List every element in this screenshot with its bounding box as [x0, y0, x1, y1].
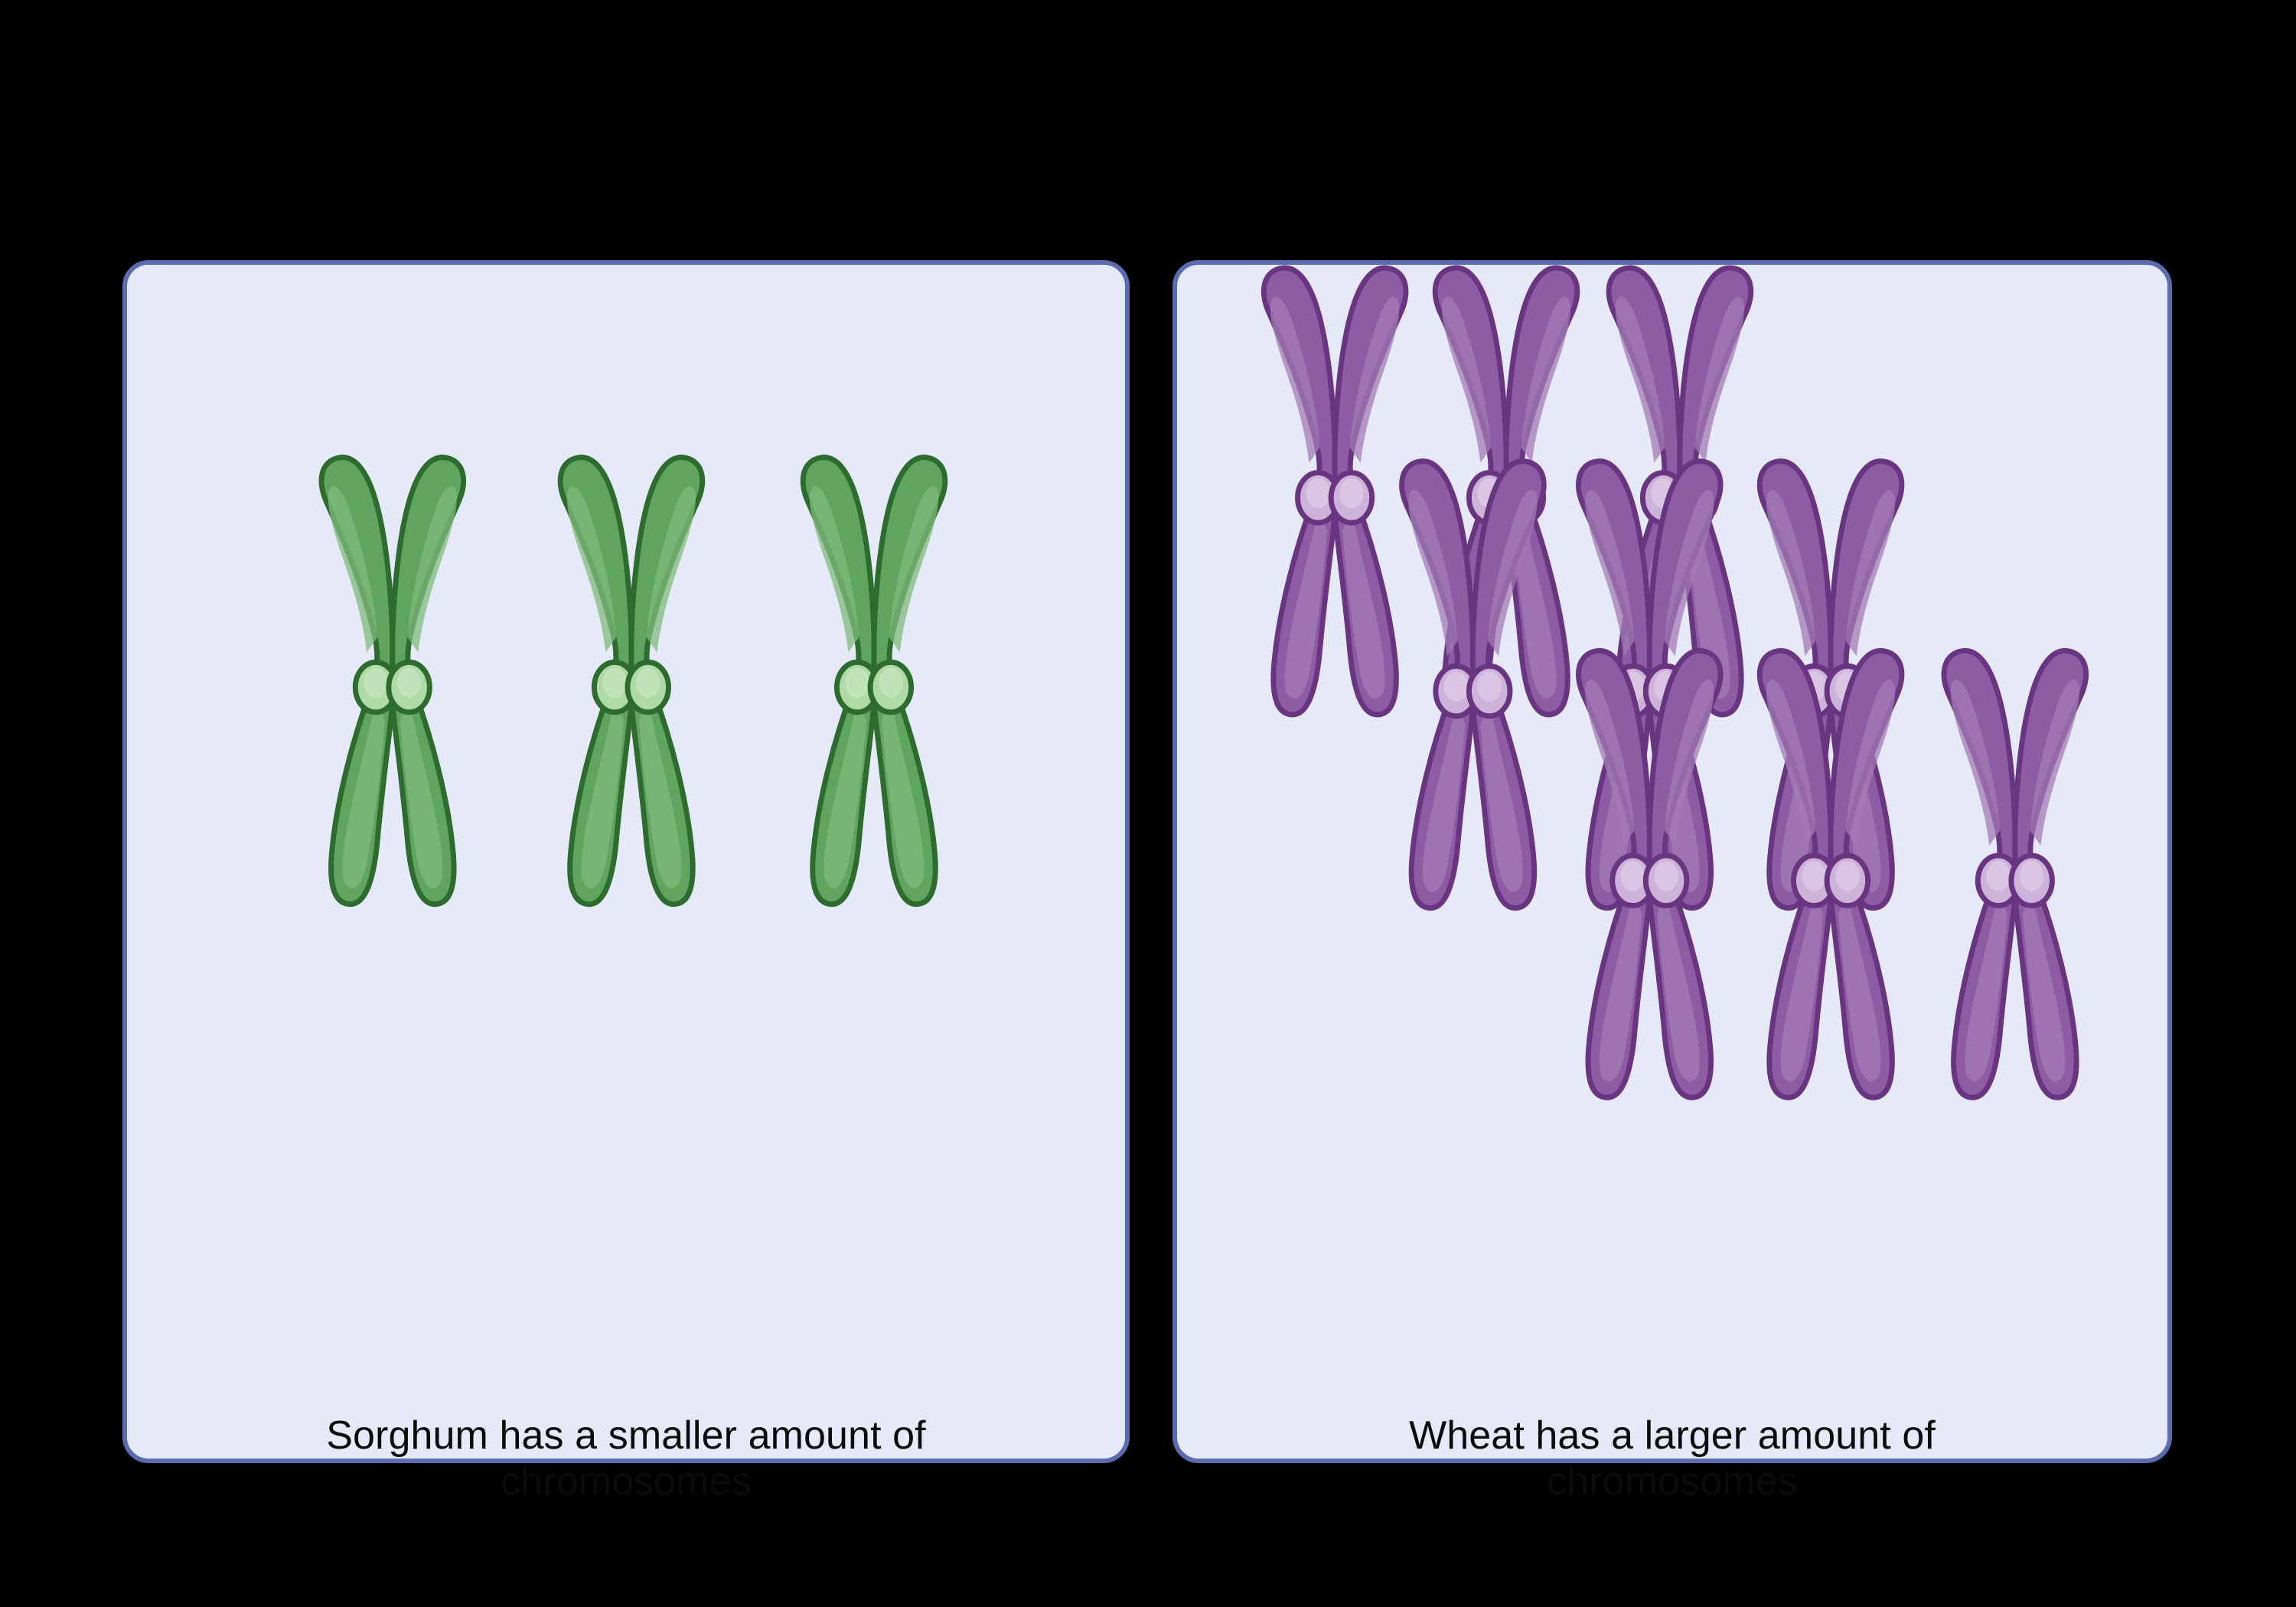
chromosome	[1579, 461, 1721, 908]
sister-chromatid-left	[321, 458, 393, 905]
centromere-right	[628, 662, 669, 712]
diagram-canvas: Sorghum has a smaller amount of chromoso…	[0, 0, 2296, 1607]
centromere-right	[1331, 473, 1372, 523]
centromere-disc	[1613, 856, 1654, 905]
sister-chromatid-left	[1264, 268, 1335, 715]
chromatid-highlight	[1838, 490, 1895, 892]
sister-chromatid-right	[1649, 461, 1720, 908]
centromere-left	[1642, 473, 1684, 523]
panel-sorghum: Sorghum has a smaller amount of chromoso…	[122, 260, 1130, 1463]
chromatid-highlight	[567, 486, 624, 888]
sister-chromatid-right	[1649, 650, 1720, 1097]
centromere-disc	[1613, 666, 1654, 715]
centromere-disc	[1794, 666, 1835, 715]
centromere-highlight	[364, 667, 388, 698]
centromere-right	[1502, 473, 1544, 523]
sister-chromatid-right	[1506, 268, 1577, 715]
centromere-right	[1645, 666, 1687, 715]
centromere-highlight	[1802, 671, 1826, 702]
centromere-highlight	[1654, 861, 1678, 892]
centromere-left	[1613, 666, 1654, 715]
chromatid-highlight	[1342, 297, 1399, 699]
centromere-disc	[1469, 666, 1510, 715]
centromere-highlight	[1986, 861, 2011, 892]
centromere-right	[389, 662, 430, 712]
sister-chromatid-left	[560, 458, 631, 905]
centromere-disc	[837, 662, 878, 712]
chromatid-body	[1264, 268, 1335, 715]
caption-sorghum-line2: chromosomes	[173, 1459, 1079, 1504]
chromatid-body	[1402, 461, 1473, 908]
centromere-left	[1978, 856, 2019, 905]
centromere-right	[1645, 856, 1687, 905]
centromere-left	[837, 662, 878, 712]
centromere-disc	[2011, 856, 2053, 905]
centromere-highlight	[1835, 861, 1860, 892]
centromere-disc	[1645, 856, 1687, 905]
chromatid-highlight	[1766, 490, 1823, 892]
sister-chromatid-right	[1831, 461, 1902, 908]
sister-chromatid-left	[1760, 650, 1831, 1097]
centromere-left	[1794, 856, 1835, 905]
centromere-disc	[1502, 473, 1544, 523]
chromatid-highlight	[1838, 680, 1895, 1081]
chromatid-body	[1649, 650, 1720, 1097]
chromatid-body	[1831, 650, 1902, 1097]
sister-chromatid-left	[803, 458, 874, 905]
centromere-disc	[1827, 666, 1868, 715]
sister-chromatid-left	[1760, 461, 1831, 908]
centromere-disc	[1298, 473, 1339, 523]
chromosome	[1435, 268, 1577, 715]
sister-chromatid-right	[631, 458, 703, 905]
chromatid-body	[1649, 461, 1720, 908]
centromere-disc	[1978, 856, 2019, 905]
centromere-disc	[1469, 473, 1510, 523]
caption-sorghum: Sorghum has a smaller amount of chromoso…	[127, 1413, 1125, 1504]
chromatid-highlight	[1616, 297, 1672, 699]
chromosome	[560, 458, 703, 905]
sister-chromatid-left	[1944, 650, 2015, 1097]
chromatid-body	[1435, 268, 1506, 715]
centromere-highlight	[602, 667, 627, 698]
sister-chromatid-left	[1579, 461, 1650, 908]
chromosome	[803, 458, 945, 905]
centromere-highlight	[1477, 478, 1502, 509]
centromere-disc	[1676, 473, 1717, 523]
centromere-left	[1613, 856, 1654, 905]
caption-sorghum-line1: Sorghum has a smaller amount of	[173, 1413, 1079, 1459]
centromere-disc	[1642, 473, 1684, 523]
sister-chromatid-right	[1473, 461, 1544, 908]
centromere-disc	[594, 662, 635, 712]
chromatid-highlight	[1657, 490, 1714, 892]
centromere-highlight	[845, 667, 869, 698]
sister-chromatid-right	[2015, 650, 2086, 1097]
centromere-highlight	[1477, 671, 1502, 702]
chromosome	[1579, 650, 1721, 1097]
centromere-disc	[389, 662, 430, 712]
chromatid-body	[631, 458, 703, 905]
chromosome	[1609, 268, 1751, 715]
chromosome	[1264, 268, 1406, 715]
chromatid-body	[1579, 650, 1650, 1097]
centromere-left	[1794, 666, 1835, 715]
chromatid-body	[1831, 461, 1902, 908]
sister-chromatid-left	[1435, 268, 1506, 715]
centromere-highlight	[397, 667, 422, 698]
chromatid-highlight	[882, 486, 938, 888]
chromatid-highlight	[1408, 490, 1465, 892]
centromere-right	[2011, 856, 2053, 905]
centromere-disc	[870, 662, 912, 712]
chromatid-highlight	[1585, 490, 1642, 892]
centromere-left	[1469, 473, 1510, 523]
centromere-right	[1827, 856, 1868, 905]
centromere-highlight	[1835, 671, 1860, 702]
chromatid-highlight	[2023, 680, 2079, 1081]
centromere-left	[1436, 666, 1477, 715]
chromatid-highlight	[810, 486, 866, 888]
centromere-right	[1827, 666, 1868, 715]
chromatid-body	[1579, 461, 1650, 908]
sister-chromatid-right	[874, 458, 945, 905]
centromere-highlight	[636, 667, 660, 698]
sister-chromatid-right	[1680, 268, 1751, 715]
centromere-disc	[1794, 856, 1835, 905]
chromatid-highlight	[1951, 680, 2007, 1081]
centromere-highlight	[879, 667, 903, 698]
sister-chromatid-right	[1335, 268, 1406, 715]
chromatid-highlight	[400, 486, 457, 888]
chromatid-body	[393, 458, 464, 905]
chromatid-highlight	[1480, 490, 1537, 892]
chromatid-body	[1760, 650, 1831, 1097]
centromere-disc	[1827, 856, 1868, 905]
chromosome	[1944, 650, 2086, 1097]
centromere-highlight	[1684, 478, 1709, 509]
centromere-disc	[1645, 666, 1687, 715]
caption-wheat: Wheat has a larger amount of chromosomes	[1177, 1413, 2167, 1504]
sister-chromatid-left	[1402, 461, 1473, 908]
wheat-chromosome-group	[1177, 265, 2167, 1459]
chromatid-body	[803, 458, 874, 905]
centromere-highlight	[2020, 861, 2044, 892]
centromere-highlight	[1339, 478, 1364, 509]
chromatid-body	[560, 458, 631, 905]
chromatid-body	[1760, 461, 1831, 908]
centromere-highlight	[1306, 478, 1330, 509]
chromatid-body	[1944, 650, 2015, 1097]
chromatid-body	[1609, 268, 1680, 715]
centromere-highlight	[1621, 861, 1645, 892]
panel-wheat: Wheat has a larger amount of chromosomes	[1172, 260, 2172, 1463]
chromatid-body	[1335, 268, 1406, 715]
centromere-highlight	[1621, 671, 1645, 702]
chromatid-body	[321, 458, 393, 905]
centromere-disc	[1436, 666, 1477, 715]
chromatid-body	[2015, 650, 2086, 1097]
centromere-disc	[355, 662, 396, 712]
centromere-right	[1676, 473, 1717, 523]
centromere-left	[1298, 473, 1339, 523]
centromere-left	[355, 662, 396, 712]
chromatid-highlight	[328, 486, 385, 888]
centromere-highlight	[1654, 671, 1678, 702]
chromosome	[1760, 650, 1902, 1097]
centromere-highlight	[1511, 478, 1535, 509]
chromatid-highlight	[639, 486, 696, 888]
chromatid-body	[1506, 268, 1577, 715]
chromosome	[321, 458, 464, 905]
chromatid-body	[1680, 268, 1751, 715]
chromatid-highlight	[1585, 680, 1642, 1081]
chromatid-body	[1473, 461, 1544, 908]
sister-chromatid-right	[1831, 650, 1902, 1097]
caption-wheat-line2: chromosomes	[1223, 1459, 2122, 1504]
chromatid-highlight	[1514, 297, 1570, 699]
chromatid-highlight	[1270, 297, 1327, 699]
chromatid-highlight	[1766, 680, 1823, 1081]
chromatid-highlight	[1688, 297, 1744, 699]
caption-wheat-line1: Wheat has a larger amount of	[1223, 1413, 2122, 1459]
chromatid-body	[874, 458, 945, 905]
centromere-left	[594, 662, 635, 712]
centromere-right	[870, 662, 912, 712]
sister-chromatid-left	[1609, 268, 1680, 715]
chromatid-highlight	[1657, 680, 1714, 1081]
centromere-right	[1469, 666, 1510, 715]
centromere-disc	[1331, 473, 1372, 523]
chromatid-highlight	[1442, 297, 1499, 699]
chromosome	[1402, 461, 1544, 908]
centromere-highlight	[1444, 671, 1469, 702]
chromosome	[1760, 461, 1902, 908]
centromere-disc	[628, 662, 669, 712]
sister-chromatid-left	[1579, 650, 1650, 1097]
sister-chromatid-right	[393, 458, 464, 905]
centromere-highlight	[1651, 478, 1675, 509]
centromere-highlight	[1802, 861, 1826, 892]
sorghum-chromosome-group	[127, 265, 1125, 1459]
